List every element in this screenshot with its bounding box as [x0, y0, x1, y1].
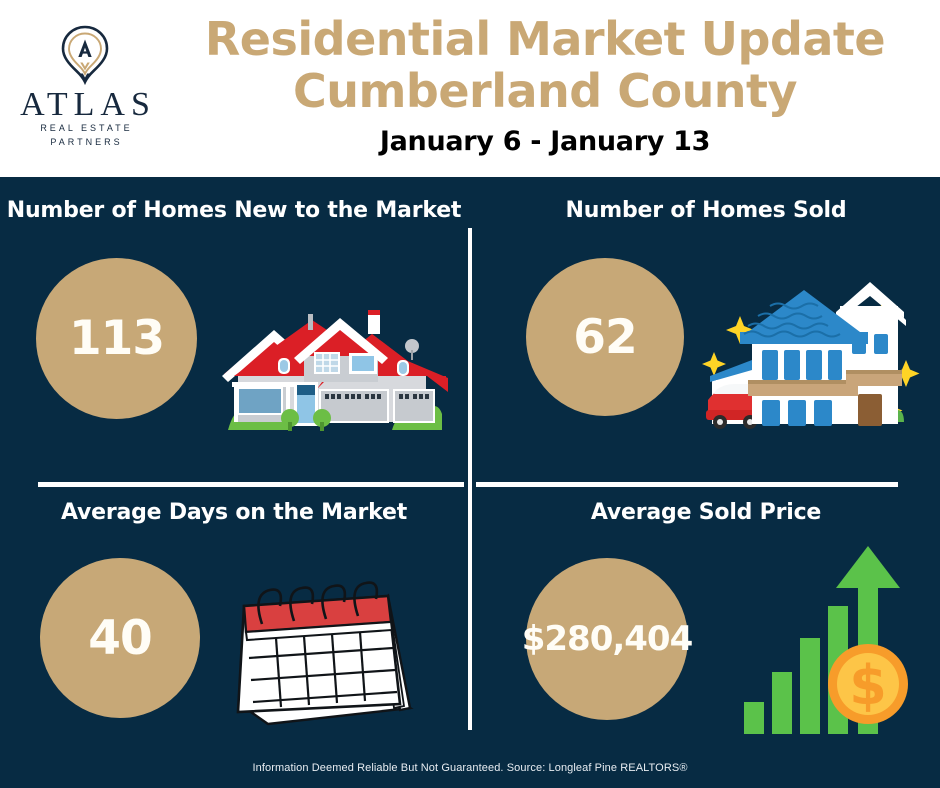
- logo-tagline-line1: REAL ESTATE: [10, 122, 160, 136]
- panel-average-days-on-market: Average Days on the Market 40: [0, 486, 468, 754]
- panel-homes-sold: Number of Homes Sold 62: [472, 180, 940, 482]
- stat-value-average-days-on-market: 40: [88, 615, 151, 662]
- stat-circle-homes-new-to-market: 113: [36, 258, 197, 419]
- panel-average-sold-price: Average Sold Price $280,404 $: [472, 486, 940, 754]
- stat-circle-homes-sold: 62: [526, 258, 684, 416]
- map-pin-a-icon: [10, 24, 160, 86]
- panel-title-average-days-on-market: Average Days on the Market: [0, 500, 468, 525]
- svg-text:$: $: [849, 654, 887, 717]
- panel-title-homes-sold: Number of Homes Sold: [472, 198, 940, 223]
- panel-title-average-sold-price: Average Sold Price: [472, 500, 940, 525]
- header-banner: ATLAS REAL ESTATE PARTNERS Residential M…: [0, 0, 940, 177]
- stat-value-homes-new-to-market: 113: [69, 315, 164, 362]
- title-block: Residential Market Update Cumberland Cou…: [160, 14, 930, 157]
- stat-circle-average-days-on-market: 40: [40, 558, 200, 718]
- stat-value-homes-sold: 62: [573, 314, 636, 361]
- logo-wordmark: ATLAS: [10, 88, 160, 122]
- stat-circle-average-sold-price: $280,404: [526, 558, 688, 720]
- page-title-line1: Residential Market Update: [160, 14, 930, 66]
- market-update-infographic: ATLAS REAL ESTATE PARTNERS Residential M…: [0, 0, 940, 788]
- date-range: January 6 - January 13: [160, 126, 930, 157]
- atlas-logo: ATLAS REAL ESTATE PARTNERS: [10, 24, 160, 154]
- blue-roof-house-sparkles-icon: [700, 276, 922, 441]
- page-title-line2: Cumberland County: [160, 66, 930, 118]
- panel-homes-new-to-market: Number of Homes New to the Market 113: [0, 180, 468, 482]
- footer-disclaimer: Information Deemed Reliable But Not Guar…: [0, 762, 940, 774]
- panel-title-homes-new-to-market: Number of Homes New to the Market: [0, 198, 468, 223]
- rising-bar-chart-dollar-coin-icon: $: [742, 544, 912, 741]
- stat-value-average-sold-price: $280,404: [522, 622, 693, 656]
- logo-tagline-line2: PARTNERS: [10, 136, 160, 150]
- red-roof-house-icon: [216, 298, 448, 441]
- desk-calendar-icon: [232, 574, 428, 731]
